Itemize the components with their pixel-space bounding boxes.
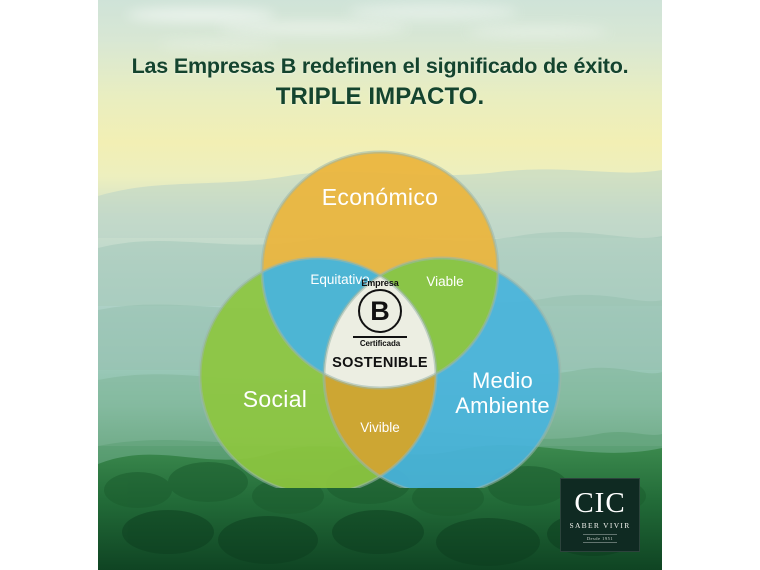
bcorp-divider	[353, 336, 407, 338]
headline-line-1: Las Empresas B redefinen el significado …	[98, 52, 662, 80]
cloud-wisp-icon	[126, 8, 276, 22]
venn-diagram: Económico Social Medio Ambiente Equitati…	[180, 128, 580, 488]
cloud-wisp-icon	[468, 26, 608, 37]
cic-tagline: SABER VIVIR	[569, 521, 630, 530]
cloud-wisp-icon	[348, 4, 518, 20]
cic-since-text: Desde 1951	[583, 534, 617, 543]
bcorp-b-icon: B	[358, 289, 402, 333]
cic-wordmark: CIC	[574, 488, 625, 518]
cloud-wisp-icon	[218, 22, 408, 34]
bcorp-label-bottom: Certificada	[325, 339, 435, 348]
poster-headline: Las Empresas B redefinen el significado …	[98, 52, 662, 113]
bcorp-certified-logo: Empresa B Certificada SOSTENIBLE	[325, 278, 435, 383]
cloud-wisp-icon	[158, 40, 278, 49]
headline-line-2: TRIPLE IMPACTO.	[98, 81, 662, 113]
venn-center-caption: SOSTENIBLE	[325, 355, 435, 371]
bcorp-label-top: Empresa	[325, 278, 435, 288]
poster-image: Las Empresas B redefinen el significado …	[98, 0, 662, 570]
cic-brand-logo: CIC SABER VIVIR Desde 1951	[560, 478, 640, 552]
screenshot-canvas: Las Empresas B redefinen el significado …	[0, 0, 760, 570]
